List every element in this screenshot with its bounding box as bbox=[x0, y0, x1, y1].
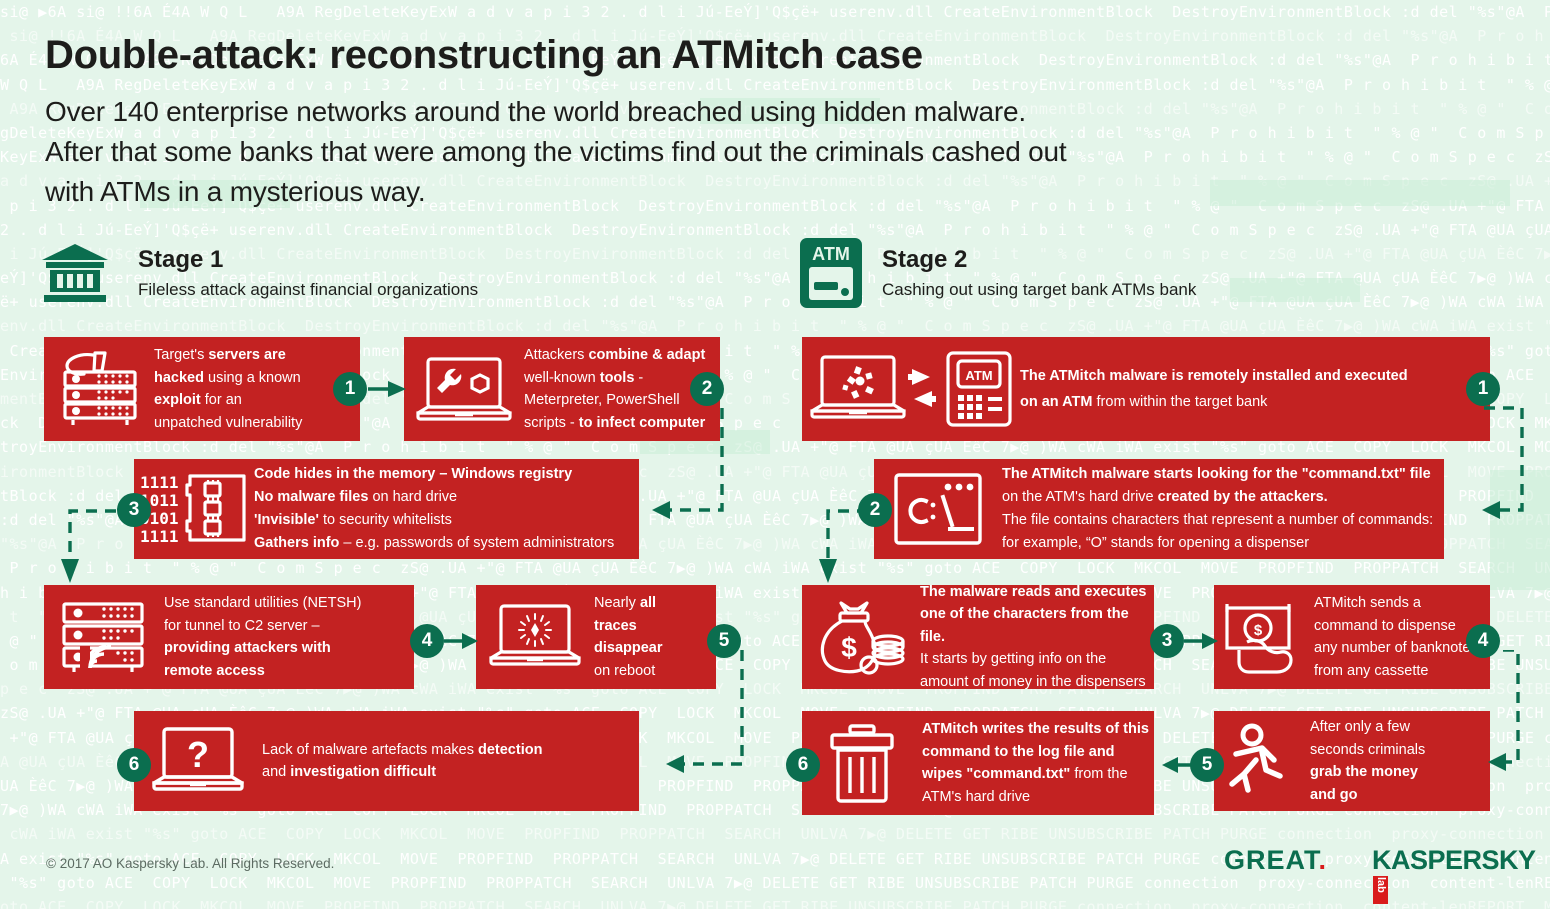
stage-1-subtitle: Fileless attack against financial organi… bbox=[138, 280, 478, 300]
stage1-step-1-badge: 1 bbox=[333, 372, 367, 406]
laptop-wrench-icon bbox=[404, 351, 524, 427]
svg-text:1111: 1111 bbox=[140, 473, 179, 492]
server-rack-wifi-icon bbox=[44, 598, 164, 676]
atm-icon: ATM bbox=[800, 238, 862, 308]
stage-1-header: Stage 1 Fileless attack against financia… bbox=[138, 246, 478, 300]
stage2-step-5-text: After only a fewseconds criminalsgrab th… bbox=[1310, 716, 1425, 806]
stage2-step-4-badge: 4 bbox=[1466, 624, 1500, 658]
laptop-to-atm-icon: ATM bbox=[802, 349, 1020, 429]
svg-text:$: $ bbox=[841, 632, 857, 663]
kaspersky-logo: KASPERSKYlab bbox=[1372, 845, 1550, 907]
stage2-step-5-badge: 5 bbox=[1190, 748, 1224, 782]
page-subtitle: Over 140 enterprise networks around the … bbox=[45, 92, 1445, 212]
stage1-step-2-badge: 2 bbox=[690, 372, 724, 406]
stage2-step-3-badge: 3 bbox=[1150, 624, 1184, 658]
stage1-step-5-badge: 5 bbox=[707, 624, 741, 658]
connector-4-to-5 bbox=[444, 630, 480, 652]
laptop-question-icon: ? bbox=[134, 723, 262, 799]
copyright-text: © 2017 AO Kaspersky Lab. All Rights Rese… bbox=[46, 856, 334, 871]
stage1-step-4-box: Use standard utilities (NETSH)for tunnel… bbox=[44, 585, 414, 689]
server-rack-axe-icon bbox=[44, 349, 154, 429]
stage2-step-4-box: $ ATMitch sends acommand to dispenseany … bbox=[1214, 585, 1490, 689]
stage2-step-6-badge: 6 bbox=[786, 748, 820, 782]
stage-2-subtitle: Cashing out using target bank ATMs bank bbox=[882, 280, 1196, 300]
great-logo-text: GREAT bbox=[1224, 845, 1319, 875]
connector-s2-1-to-2 bbox=[1470, 400, 1546, 525]
svg-text:$: $ bbox=[1254, 622, 1263, 639]
subtitle-line-3: with ATMs in a mysterious way. bbox=[45, 172, 1445, 212]
connector-1-to-2 bbox=[368, 378, 408, 400]
laptop-sparkle-icon bbox=[476, 600, 594, 674]
subtitle-line-1: Over 140 enterprise networks around the … bbox=[45, 92, 1445, 132]
stage2-step-3-box: $ The malware reads and executesone of t… bbox=[802, 585, 1154, 689]
stage1-step-4-text: Use standard utilities (NETSH)for tunnel… bbox=[164, 592, 361, 682]
kaspersky-lab-badge: lab bbox=[1373, 876, 1388, 904]
stage2-step-1-text: The ATMitch malware is remotely installe… bbox=[1020, 363, 1408, 415]
command-prompt-icon bbox=[874, 469, 1002, 549]
page-title: Double-attack: reconstructing an ATMitch… bbox=[45, 33, 923, 78]
stage2-step-2-box: The ATMitch malware starts looking for t… bbox=[874, 459, 1444, 559]
connector-3-to-4 bbox=[48, 495, 128, 587]
bank-icon bbox=[42, 244, 108, 302]
svg-text:ATM: ATM bbox=[965, 368, 992, 383]
stage1-step-4-badge: 4 bbox=[410, 624, 444, 658]
stage2-step-3-text: The malware reads and executesone of the… bbox=[920, 585, 1154, 689]
stage-1-title: Stage 1 bbox=[138, 246, 478, 274]
stage1-step-1-text: Target's servers arehacked using a known… bbox=[154, 344, 302, 434]
stage2-step-1-box: ATM The ATMitch malware is remotely inst… bbox=[802, 337, 1490, 441]
stage2-step-2-text: The ATMitch malware starts looking for t… bbox=[1002, 463, 1433, 555]
kaspersky-logo-text: KASPERSKY bbox=[1372, 845, 1536, 875]
stage1-step-3-box: 1111 1011 0101 1111 bbox=[134, 459, 639, 559]
stage1-step-1-box: Target's servers arehacked using a known… bbox=[44, 337, 360, 441]
connector-2-to-3 bbox=[630, 400, 750, 525]
stage2-step-1-badge: 1 bbox=[1466, 372, 1500, 406]
connector-s2-3-to-4 bbox=[1184, 630, 1220, 652]
svg-text:1111: 1111 bbox=[140, 527, 179, 546]
stage2-step-2-badge: 2 bbox=[858, 493, 892, 527]
stage-2-title: Stage 2 bbox=[882, 246, 1196, 274]
hand-banknote-icon: $ bbox=[1214, 598, 1314, 676]
stage1-step-3-badge: 3 bbox=[117, 493, 151, 527]
stage1-step-6-text: Lack of malware artefacts makes detectio… bbox=[262, 739, 542, 784]
memory-module-icon: 1111 1011 0101 1111 bbox=[134, 470, 254, 548]
stage1-step-3-text: Code hides in the memory – Windows regis… bbox=[254, 463, 614, 555]
stage2-step-4-text: ATMitch sends acommand to dispenseany nu… bbox=[1314, 592, 1478, 682]
trash-bin-icon bbox=[802, 723, 922, 803]
running-person-icon bbox=[1214, 722, 1310, 800]
svg-text:ATM: ATM bbox=[812, 244, 850, 264]
great-logo-dot: . bbox=[1319, 845, 1328, 875]
connector-s2-4-to-5 bbox=[1470, 650, 1546, 778]
stage2-step-6-box: ATMitch writes the results of thiscomman… bbox=[802, 711, 1154, 815]
stage-2-header: Stage 2 Cashing out using target bank AT… bbox=[882, 246, 1196, 300]
great-logo: GREAT. bbox=[1224, 845, 1327, 876]
connector-5-to-6 bbox=[640, 650, 760, 780]
stage1-step-6-badge: 6 bbox=[117, 748, 151, 782]
stage1-step-6-box: ? Lack of malware artefacts makes detect… bbox=[134, 711, 639, 811]
stage2-step-5-box: After only a fewseconds criminalsgrab th… bbox=[1214, 711, 1490, 811]
subtitle-line-2: After that some banks that were among th… bbox=[45, 132, 1445, 172]
svg-text:?: ? bbox=[187, 734, 209, 775]
money-bag-coins-icon: $ bbox=[802, 597, 920, 677]
stage2-step-6-text: ATMitch writes the results of thiscomman… bbox=[922, 718, 1149, 808]
